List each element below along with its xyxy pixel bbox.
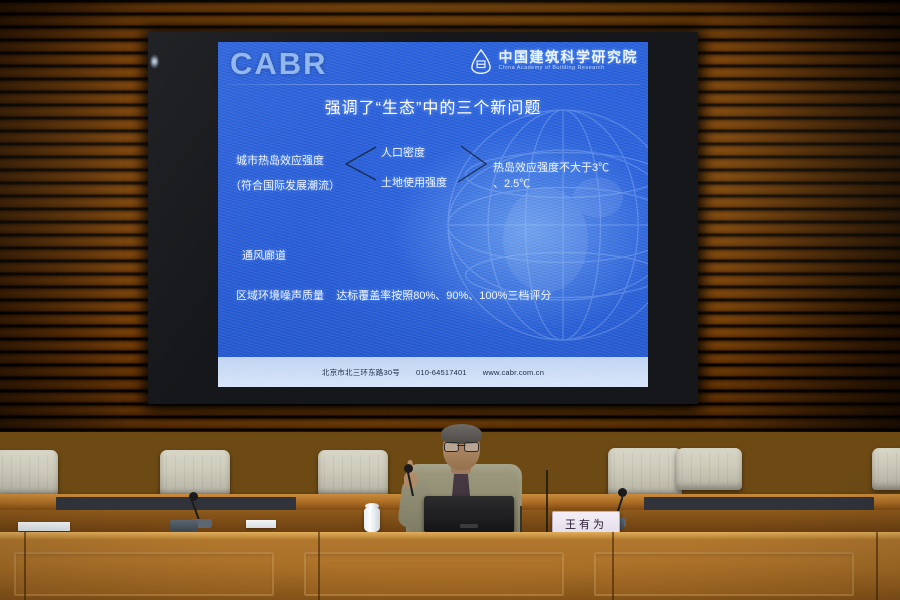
- desk-mat-right: [644, 497, 874, 510]
- desk-panel-1: [14, 552, 274, 596]
- item-heat-island: 城市热岛效应强度: [236, 152, 324, 168]
- connector-brackets: [218, 42, 648, 387]
- footer-phone: 010-64517401: [416, 368, 467, 377]
- microphone-head-right: [618, 488, 627, 497]
- document-left: [18, 522, 70, 531]
- slide-texture-overlay: [218, 42, 648, 387]
- microphone-head-left: [189, 492, 198, 501]
- org-name-cn: 中国建筑科学研究院: [499, 50, 639, 64]
- presenter-hair: [441, 424, 482, 444]
- desk-mat-left: [56, 497, 296, 510]
- microphone-head-podium: [404, 464, 413, 473]
- front-desk-edge: [0, 532, 900, 539]
- chair-6: [872, 448, 900, 490]
- item-limit-line2: 、2.5℃: [493, 175, 530, 191]
- chair-5: [676, 448, 742, 490]
- slide-title: 强调了“生态”中的三个新问题: [218, 94, 648, 118]
- desk-seam-3: [612, 532, 614, 600]
- item-ventilation: 通风廊道: [242, 247, 286, 263]
- tea-cup: [364, 508, 380, 532]
- item-heat-island-note: （符合国际发展潮流）: [230, 177, 340, 193]
- nameplate-text: 王有为: [565, 516, 607, 532]
- globe-graphic-icon: [438, 100, 648, 350]
- desk-seam-4: [876, 532, 878, 600]
- item-noise-value: 达标覆盖率按照80%、90%、100%三档评分: [336, 290, 551, 302]
- desk-panel-3: [594, 552, 854, 596]
- chair-1: [0, 450, 58, 496]
- desk-seam-1: [24, 532, 26, 600]
- cabr-emblem-icon: [468, 48, 494, 74]
- desk-panel-2: [304, 552, 564, 596]
- item-land-use-intensity: 土地使用强度: [381, 174, 447, 190]
- org-name-en: China Academy of Building Research: [499, 66, 639, 72]
- footer-website: www.cabr.com.cn: [483, 368, 544, 377]
- projection-screen: CABR 中国建筑科学研究院 China Academy of Building…: [148, 32, 698, 404]
- chair-2: [160, 450, 230, 496]
- slide-footer: 北京市北三环东路30号 010-64517401 www.cabr.com.cn: [218, 357, 648, 387]
- cabr-logo: 中国建筑科学研究院 China Academy of Building Rese…: [468, 48, 639, 74]
- presentation-slide: CABR 中国建筑科学研究院 China Academy of Building…: [218, 42, 648, 387]
- presenter-glasses-icon: [444, 442, 479, 450]
- item-noise-label: 区域环境噪声质量: [236, 290, 324, 302]
- desk-seam-2: [318, 532, 320, 600]
- screenshot-root: CABR 中国建筑科学研究院 China Academy of Building…: [0, 0, 900, 600]
- chair-3: [318, 450, 388, 496]
- slide-header: CABR 中国建筑科学研究院 China Academy of Building…: [218, 42, 648, 85]
- laptop[interactable]: [424, 496, 514, 532]
- cable-2: [546, 470, 548, 532]
- item-limit-line1: 热岛效应强度不大于3℃: [493, 159, 609, 175]
- item-population-density: 人口密度: [381, 144, 425, 160]
- footer-address: 北京市北三环东路30号: [322, 367, 400, 378]
- item-noise: 区域环境噪声质量 达标覆盖率按照80%、90%、100%三档评分: [236, 287, 551, 303]
- document-mid: [246, 520, 276, 528]
- screen-edge-glint: [151, 55, 158, 68]
- cabr-wordmark: CABR: [230, 46, 328, 82]
- control-panel-left[interactable]: [170, 520, 198, 531]
